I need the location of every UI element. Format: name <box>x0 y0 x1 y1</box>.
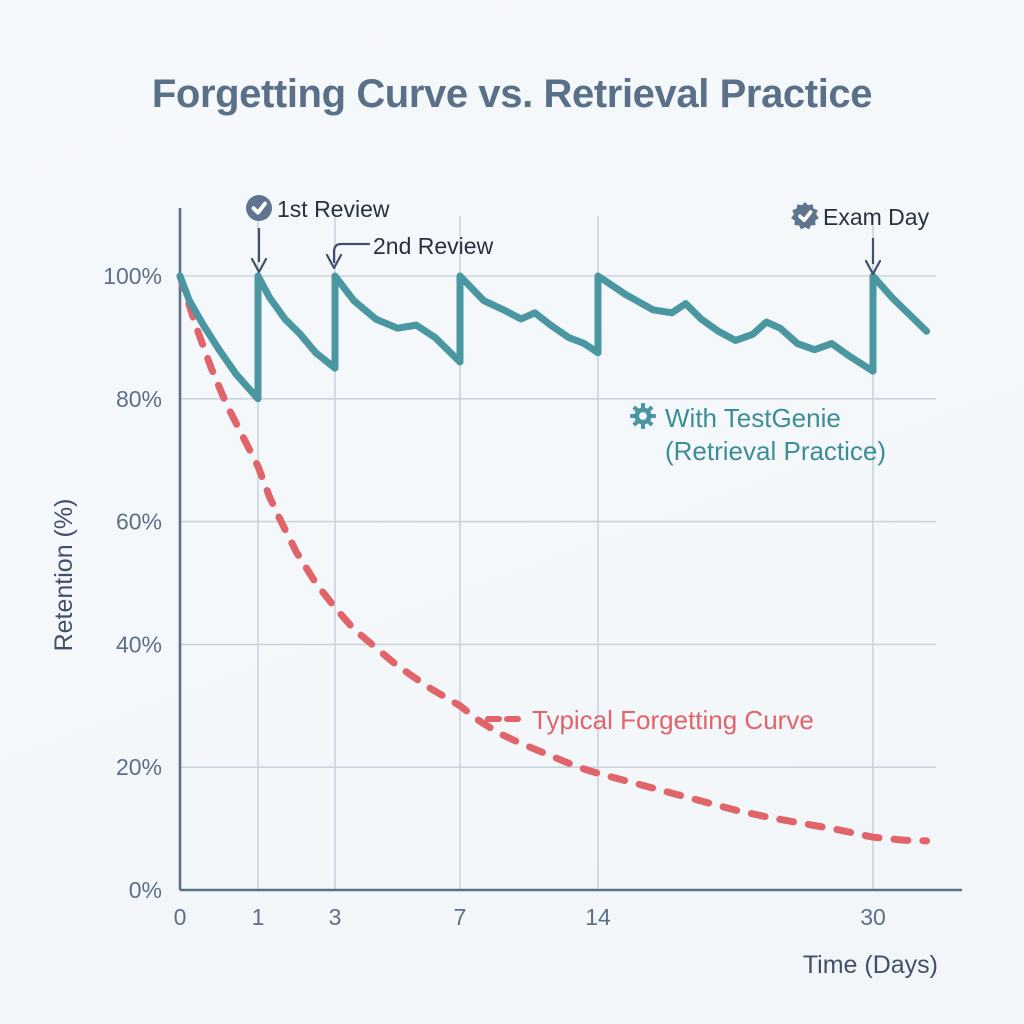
series-typical-forgetting-curve <box>180 276 927 841</box>
annotation-layer[interactable]: 1st Review2nd ReviewExam Day <box>246 195 930 274</box>
down-arrow-icon <box>252 228 266 272</box>
legend-label-forgetting-curve: Typical Forgetting Curve <box>532 705 814 735</box>
badge-check-icon <box>791 202 819 229</box>
chart-canvas: 0%20%40%60%80%100% 01371430 1st Review2n… <box>0 0 1024 1024</box>
gear-hole <box>639 412 647 420</box>
annotation-label-exam-day: Exam Day <box>823 204 930 230</box>
annotation-2nd-review[interactable]: 2nd Review <box>327 233 494 268</box>
x-tick-label: 3 <box>329 904 342 930</box>
y-tick-labels: 0%20%40%60%80%100% <box>103 263 162 903</box>
y-tick-label: 20% <box>116 754 162 780</box>
y-tick-label: 100% <box>103 263 162 289</box>
gear-icon <box>630 403 656 429</box>
series-with-testgenie <box>180 276 927 399</box>
chart-root: Forgetting Curve vs. Retrieval Practice … <box>0 0 1024 1024</box>
icon-bg <box>791 202 819 229</box>
y-tick-label: 40% <box>116 631 162 657</box>
x-tick-label: 30 <box>860 904 886 930</box>
x-tick-label: 7 <box>454 904 467 930</box>
annotation-label-1st-review: 1st Review <box>277 196 390 222</box>
annotation-exam-day[interactable]: Exam Day <box>791 202 929 274</box>
x-tick-labels: 01371430 <box>174 904 886 930</box>
legend-label-testgenie-line2: (Retrieval Practice) <box>665 436 886 466</box>
annotation-1st-review[interactable]: 1st Review <box>246 195 390 272</box>
check-circle-icon <box>246 195 272 221</box>
x-axis-title: Time (Days) <box>803 951 938 979</box>
y-tick-label: 0% <box>129 877 162 903</box>
x-tick-label: 14 <box>585 904 611 930</box>
x-tick-label: 0 <box>174 904 187 930</box>
legend-typical-forgetting-curve: Typical Forgetting Curve <box>488 705 814 735</box>
y-tick-label: 80% <box>116 386 162 412</box>
y-axis-title: Retention (%) <box>50 499 78 652</box>
x-tick-label: 1 <box>252 904 265 930</box>
line-typical-forgetting-curve <box>180 276 927 841</box>
line-with-testgenie <box>180 276 927 399</box>
icon-bg <box>246 195 272 221</box>
y-tick-label: 60% <box>116 509 162 535</box>
legend-layer: With TestGenie(Retrieval Practice)Typica… <box>488 403 886 735</box>
legend-label-testgenie-line1: With TestGenie <box>665 403 841 433</box>
legend-with-testgenie: With TestGenie(Retrieval Practice) <box>630 403 886 466</box>
annotation-label-2nd-review: 2nd Review <box>373 233 494 259</box>
